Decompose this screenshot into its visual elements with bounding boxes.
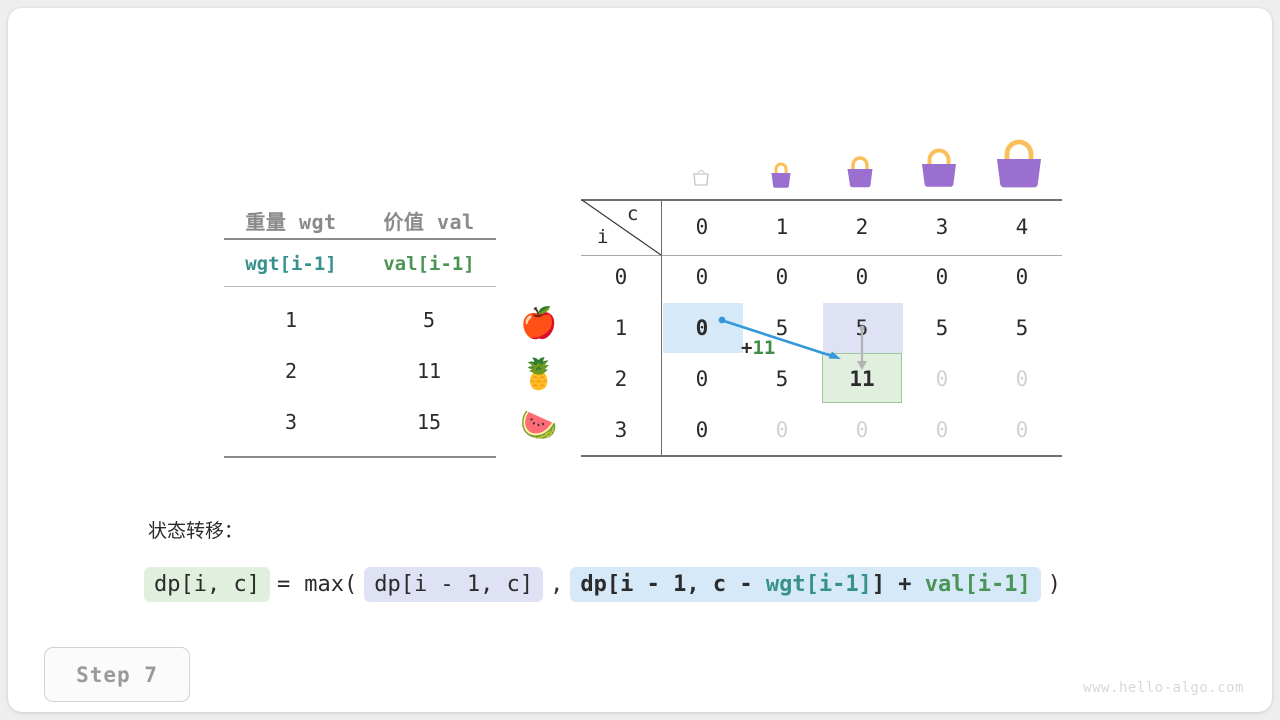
item-table-subheader-value: val[i-1] [362, 253, 496, 275]
bag-icon-1 [766, 161, 796, 189]
dp-cell-0-2: 0 [822, 252, 902, 302]
dp-row-header-1: 1 [581, 303, 661, 353]
dp-corner-row-label: i [597, 226, 608, 248]
item-table-subheader-weight: wgt[i-1] [224, 253, 358, 275]
dp-row-header-0: 0 [581, 252, 661, 302]
dp-cell-0-3: 0 [902, 252, 982, 302]
formula-comma: , [543, 572, 570, 597]
dp-col-header-0: 0 [662, 202, 742, 252]
pineapple-icon: 🍍 [519, 360, 559, 390]
formula-option-take: dp[i - 1, c - wgt[i-1]] + val[i-1] [570, 567, 1040, 602]
transition-formula: dp[i, c] = max( dp[i - 1, c] , dp[i - 1,… [144, 567, 1068, 602]
dp-cell-3-0: 0 [662, 405, 742, 455]
dp-cell-0-0: 0 [662, 252, 742, 302]
apple-icon: 🍎 [519, 309, 559, 339]
bag-icon-2 [842, 154, 878, 189]
dp-corner-col-label: c [627, 203, 638, 225]
item-table-rule-bottom [224, 456, 496, 458]
dp-cell-3-1: 0 [742, 405, 822, 455]
item-table-header-value: 价值 val [362, 206, 496, 235]
bag-icon-empty [690, 166, 712, 188]
formula-target: dp[i, c] [144, 567, 270, 602]
dp-cell-3-2: 0 [822, 405, 902, 455]
formula-option-take-prefix: dp[i - 1, c - [580, 572, 765, 597]
gain-label: +11 [741, 337, 775, 359]
item-weight-3: 3 [224, 410, 358, 434]
dp-cell-3-4: 0 [982, 405, 1062, 455]
corner-diagonal-divider [581, 199, 662, 256]
watermelon-icon: 🍉 [519, 411, 559, 441]
dp-cell-2-4: 0 [982, 354, 1062, 404]
item-table-header-weight: 重量 wgt [224, 206, 358, 235]
transition-heading: 状态转移： [148, 516, 243, 543]
dp-col-header-1: 1 [742, 202, 822, 252]
dp-col-header-4: 4 [982, 202, 1062, 252]
dp-cell-2-3: 0 [902, 354, 982, 404]
formula-equals: = [270, 572, 297, 597]
bag-icon-3 [916, 145, 962, 189]
item-table-rule-mid [224, 286, 496, 287]
formula-option-skip: dp[i - 1, c] [364, 567, 543, 602]
formula-option-take-val: val[i-1] [925, 572, 1031, 597]
bag-icon-4 [990, 136, 1048, 190]
watermark: www.hello-algo.com [1083, 680, 1244, 696]
dp-cell-0-4: 0 [982, 252, 1062, 302]
step-badge: Step 7 [44, 647, 190, 702]
take-item-arrow [717, 315, 847, 367]
formula-option-take-mid: ] + [872, 572, 925, 597]
formula-close: ) [1041, 572, 1068, 597]
dp-col-header-2: 2 [822, 202, 902, 252]
formula-max-open: max( [297, 572, 364, 597]
dp-cell-1-4: 5 [982, 303, 1062, 353]
item-table-rule-top [224, 238, 496, 240]
skip-item-arrow [851, 325, 873, 373]
formula-option-take-wgt: wgt[i-1] [766, 572, 872, 597]
slide-card: 重量 wgt 价值 val wgt[i-1] val[i-1] 1 5 2 11… [8, 8, 1272, 712]
dp-row-header-3: 3 [581, 405, 661, 455]
dp-cell-0-1: 0 [742, 252, 822, 302]
item-weight-2: 2 [224, 359, 358, 383]
dp-cell-3-3: 0 [902, 405, 982, 455]
dp-col-header-3: 3 [902, 202, 982, 252]
item-value-2: 11 [362, 359, 496, 383]
item-value-1: 5 [362, 308, 496, 332]
dp-row-header-2: 2 [581, 354, 661, 404]
item-weight-1: 1 [224, 308, 358, 332]
dp-rule-bottom [581, 455, 1062, 457]
dp-cell-1-3: 5 [902, 303, 982, 353]
item-value-3: 15 [362, 410, 496, 434]
